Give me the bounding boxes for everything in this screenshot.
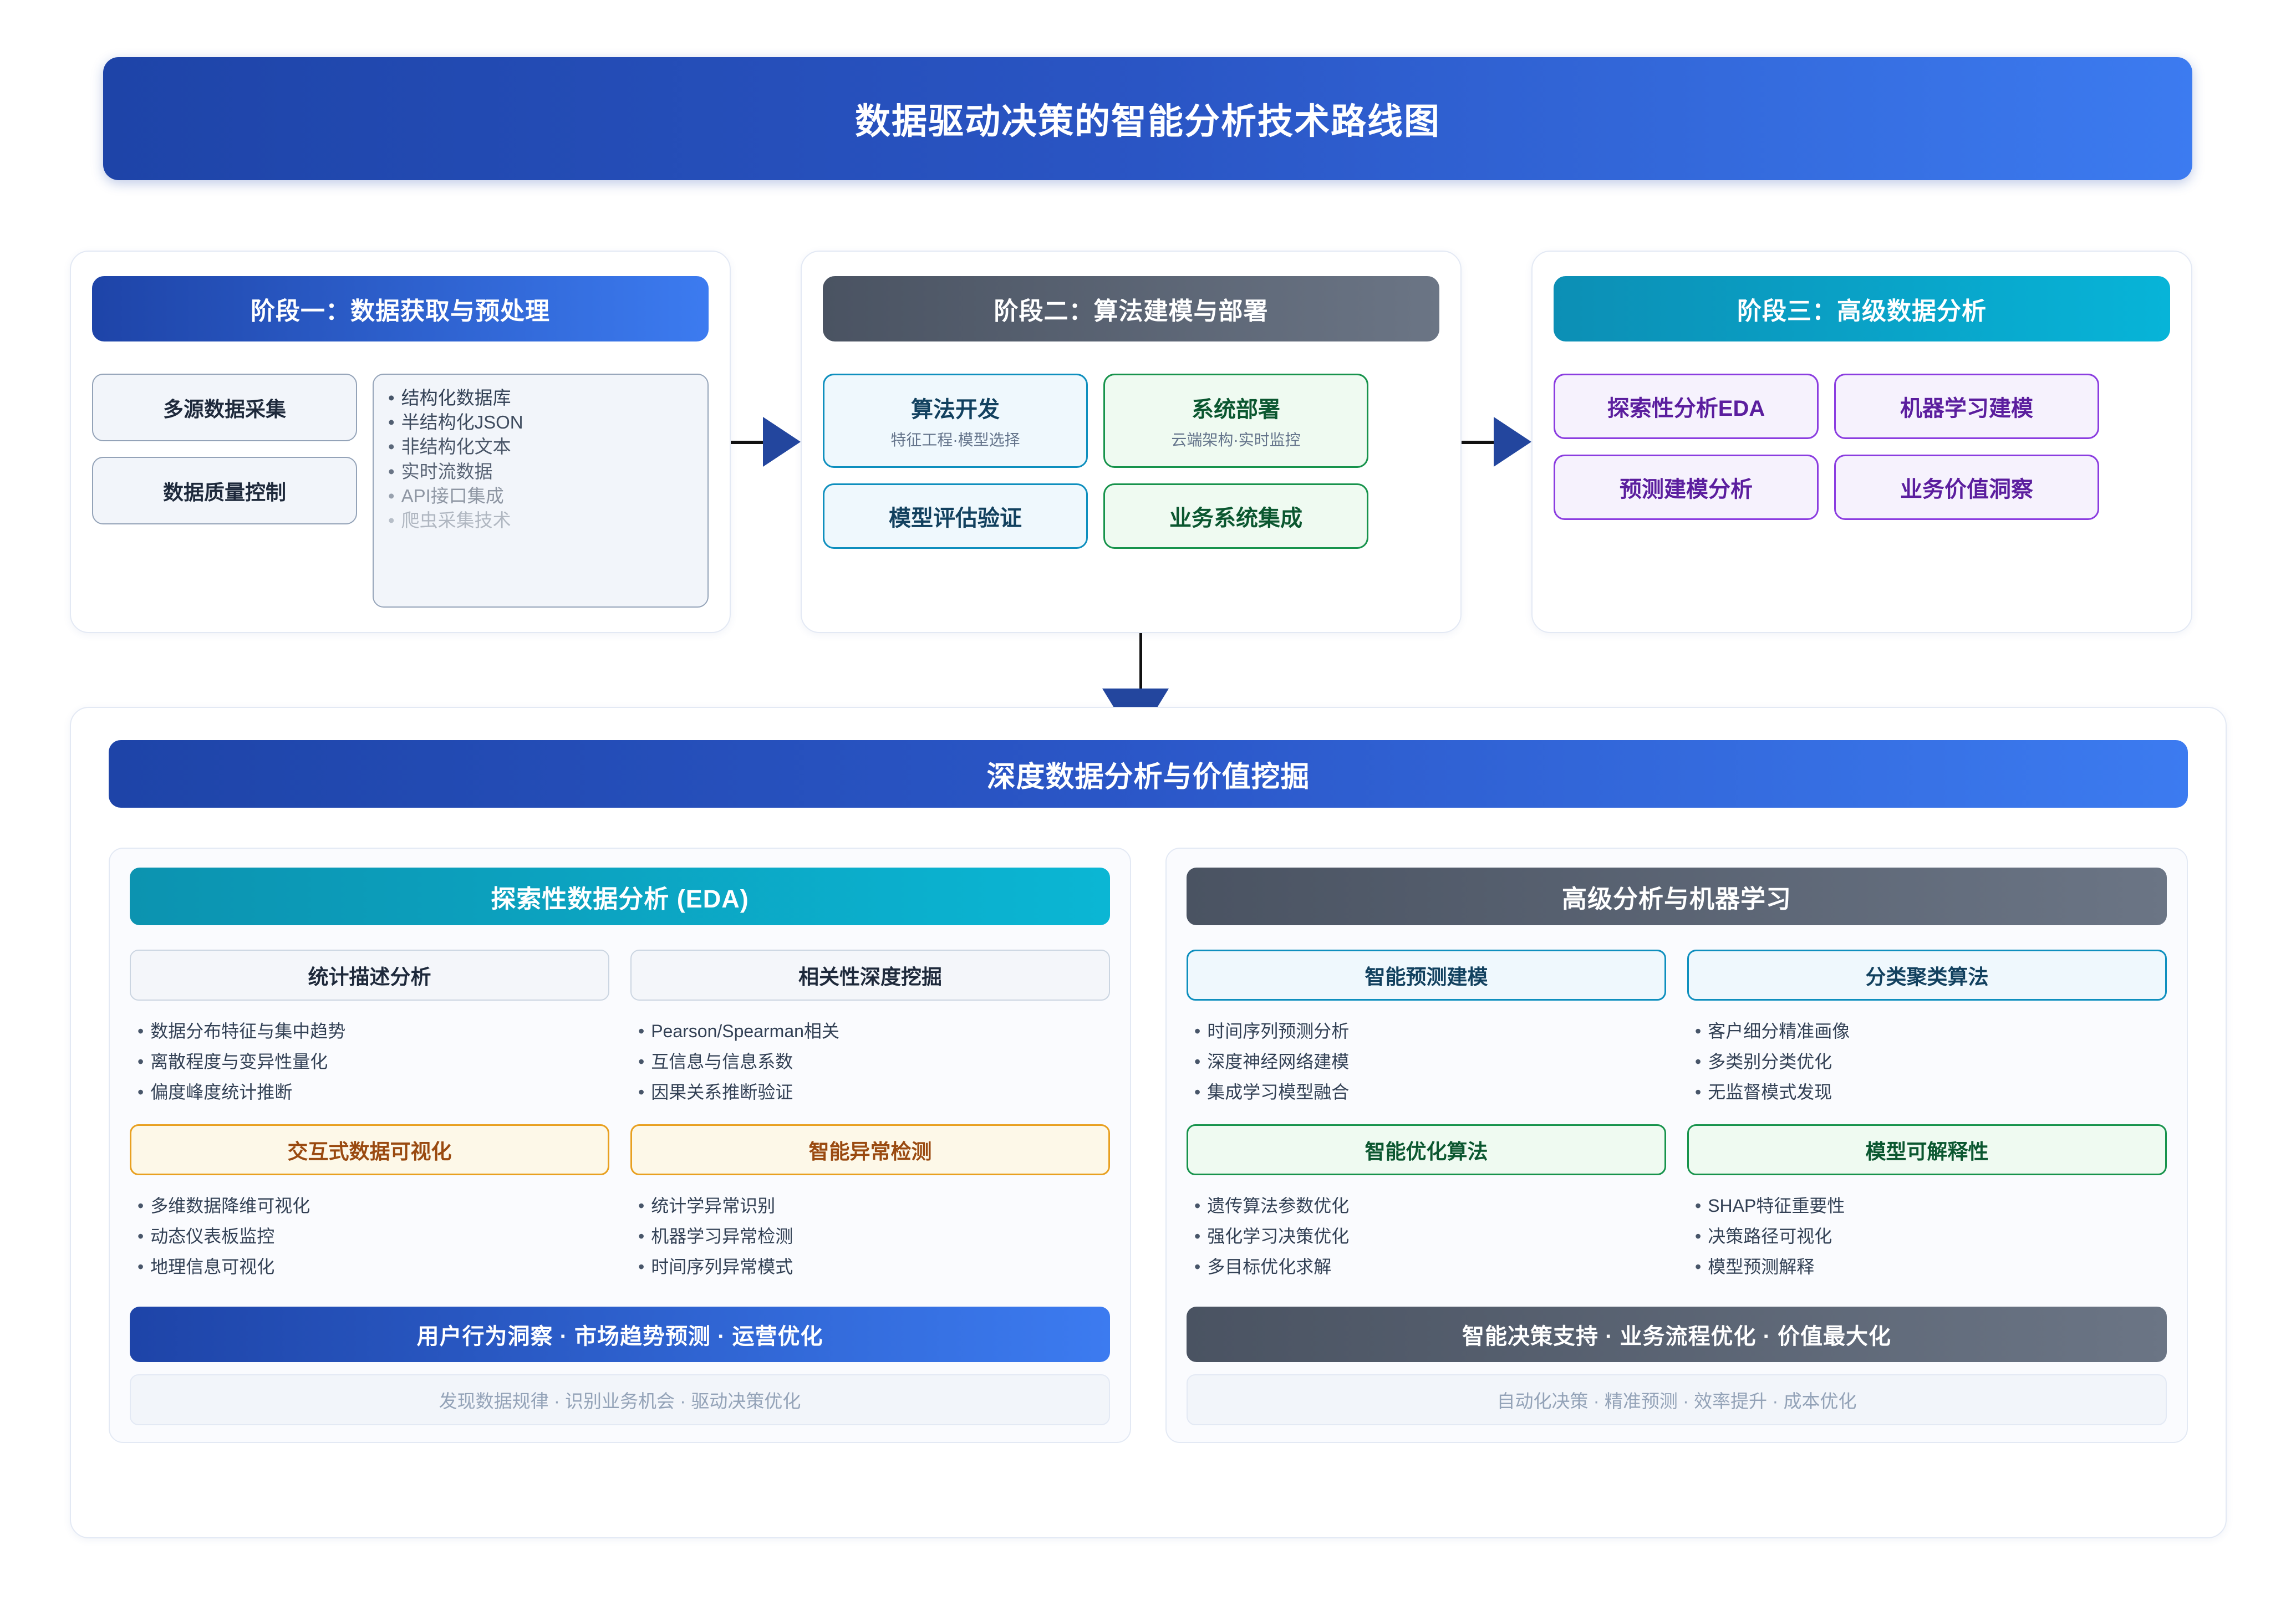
deep-analysis-banner-label: 深度数据分析与价值挖掘 [986, 753, 1310, 795]
list-item: 深度神经网络建模 [1194, 1047, 1666, 1077]
list-item: 多目标优化求解 [1194, 1252, 1666, 1282]
bullet-list: 多维数据降维可视化 动态仪表板监控 地理信息可视化 [138, 1191, 609, 1282]
list-item: 遗传算法参数优化 [1194, 1191, 1666, 1221]
analysis-panels: 探索性数据分析 (EDA) 统计描述分析 数据分布特征与集中趋势 离散程度与变异… [109, 848, 2188, 1443]
panel-ml-footnote: 自动化决策 · 精准预测 · 效率提升 · 成本优化 [1187, 1374, 2167, 1425]
panel-eda-row-1: 统计描述分析 数据分布特征与集中趋势 离散程度与变异性量化 偏度峰度统计推断 交… [130, 950, 1110, 1299]
arrow-right-icon [731, 411, 801, 472]
list-item: API接口集成 [388, 484, 693, 508]
card-classification-clustering[interactable]: 分类聚类算法 [1687, 950, 2167, 1001]
bullet-list: SHAP特征重要性 决策路径可视化 模型预测解释 [1695, 1191, 2167, 1282]
box-model-evaluation[interactable]: 模型评估验证 [823, 483, 1088, 549]
connector-stage1-stage2 [731, 251, 801, 633]
bullet-list: 时间序列预测分析 深度神经网络建模 集成学习模型融合 [1194, 1016, 1666, 1108]
panel-eda-footnote: 发现数据规律 · 识别业务机会 · 驱动决策优化 [130, 1374, 1110, 1425]
box-exploratory-analysis-eda[interactable]: 探索性分析EDA [1554, 374, 1819, 439]
box-business-integration[interactable]: 业务系统集成 [1103, 483, 1368, 549]
list-item: 半结构化JSON [388, 410, 693, 435]
bullet-list: 数据分布特征与集中趋势 离散程度与变异性量化 偏度峰度统计推断 [138, 1016, 609, 1108]
list-item: 模型预测解释 [1695, 1252, 2167, 1282]
stage-card-3: 阶段三：高级数据分析 探索性分析EDA 预测建模分析 机器学习建模 [1531, 251, 2192, 633]
list-item: 机器学习异常检测 [638, 1221, 1110, 1252]
list-item: SHAP特征重要性 [1695, 1191, 2167, 1221]
panel-eda-col-2: 相关性深度挖掘 Pearson/Spearman相关 互信息与信息系数 因果关系… [630, 950, 1110, 1299]
stage-1-header: 阶段一：数据获取与预处理 [92, 276, 709, 341]
arrow-head [763, 417, 801, 467]
stage-2-body: 算法开发 特征工程·模型选择 模型评估验证 系统部署 云端架构·实时监控 业务系… [823, 374, 1439, 608]
list-item: 集成学习模型融合 [1194, 1077, 1666, 1108]
panel-ml-header: 高级分析与机器学习 [1187, 868, 2167, 925]
bullet-list: 遗传算法参数优化 强化学习决策优化 多目标优化求解 [1194, 1191, 1666, 1282]
stage-3-body: 探索性分析EDA 预测建模分析 机器学习建模 业务价值洞察 [1554, 374, 2170, 608]
stage-2-left-column: 算法开发 特征工程·模型选择 模型评估验证 [823, 374, 1088, 608]
panel-eda-header: 探索性数据分析 (EDA) [130, 868, 1110, 925]
arrow-shaft [1139, 633, 1142, 693]
panel-ml-highlight: 智能决策支持 · 业务流程优化 · 价值最大化 [1187, 1307, 2167, 1362]
panel-eda-highlight: 用户行为洞察 · 市场趋势预测 · 运营优化 [130, 1307, 1110, 1362]
bullet-list: 客户细分精准画像 多类别分类优化 无监督模式发现 [1695, 1016, 2167, 1108]
stage-1-body: 多源数据采集 数据质量控制 结构化数据库 半结构化JSON 非结构化文本 实时流… [92, 374, 709, 608]
box-algorithm-development[interactable]: 算法开发 特征工程·模型选择 [823, 374, 1088, 468]
card-correlation-mining[interactable]: 相关性深度挖掘 [630, 950, 1110, 1001]
stage-card-2: 阶段二：算法建模与部署 算法开发 特征工程·模型选择 模型评估验证 系统部署 云… [801, 251, 1462, 633]
box-business-value-insight[interactable]: 业务价值洞察 [1834, 455, 2099, 520]
list-item: 多维数据降维可视化 [138, 1191, 609, 1221]
list-item: 时间序列预测分析 [1194, 1016, 1666, 1047]
roadmap-diagram: 数据驱动决策的智能分析技术路线图 阶段一：数据获取与预处理 多源数据采集 数据质… [0, 0, 2296, 1601]
box-machine-learning-modeling[interactable]: 机器学习建模 [1834, 374, 2099, 439]
list-item: 结构化数据库 [388, 386, 693, 410]
list-item: 强化学习决策优化 [1194, 1221, 1666, 1252]
list-item: 统计学异常识别 [638, 1191, 1110, 1221]
deep-analysis-section: 深度数据分析与价值挖掘 探索性数据分析 (EDA) 统计描述分析 数据分布特征与… [70, 707, 2227, 1538]
bullet-list: 统计学异常识别 机器学习异常检测 时间序列异常模式 [638, 1191, 1110, 1282]
list-item: 时间序列异常模式 [638, 1252, 1110, 1282]
card-anomaly-detection[interactable]: 智能异常检测 [630, 1124, 1110, 1175]
stage-card-1: 阶段一：数据获取与预处理 多源数据采集 数据质量控制 结构化数据库 半结构化JS… [70, 251, 731, 633]
stage-3-right-column: 机器学习建模 业务价值洞察 [1834, 374, 2099, 608]
arrow-shaft [731, 441, 767, 444]
list-item: 数据分布特征与集中趋势 [138, 1016, 609, 1047]
connector-stage2-stage3 [1462, 251, 1531, 633]
arrow-shaft [1462, 441, 1498, 444]
stage-row: 阶段一：数据获取与预处理 多源数据采集 数据质量控制 结构化数据库 半结构化JS… [70, 251, 2227, 633]
panel-ml-col-1: 智能预测建模 时间序列预测分析 深度神经网络建模 集成学习模型融合 智能优化算法… [1187, 950, 1666, 1299]
list-item: 非结构化文本 [388, 435, 693, 459]
chip-multi-source-collection[interactable]: 多源数据采集 [92, 374, 357, 441]
stage-1-bullet-panel: 结构化数据库 半结构化JSON 非结构化文本 实时流数据 API接口集成 爬虫采… [373, 374, 709, 608]
card-intelligent-forecasting[interactable]: 智能预测建模 [1187, 950, 1666, 1001]
list-item: 爬虫采集技术 [388, 508, 693, 533]
card-interactive-visualization[interactable]: 交互式数据可视化 [130, 1124, 609, 1175]
stage-2-right-column: 系统部署 云端架构·实时监控 业务系统集成 [1103, 374, 1368, 608]
page-title: 数据驱动决策的智能分析技术路线图 [855, 93, 1440, 144]
main-title-banner: 数据驱动决策的智能分析技术路线图 [103, 57, 2192, 180]
list-item: 动态仪表板监控 [138, 1221, 609, 1252]
panel-ml-row-1: 智能预测建模 时间序列预测分析 深度神经网络建模 集成学习模型融合 智能优化算法… [1187, 950, 2167, 1299]
arrow-right-icon [1462, 411, 1531, 472]
list-item: 因果关系推断验证 [638, 1077, 1110, 1108]
list-item: 地理信息可视化 [138, 1252, 609, 1282]
list-item: 无监督模式发现 [1695, 1077, 2167, 1108]
chip-data-quality-control[interactable]: 数据质量控制 [92, 457, 357, 524]
box-system-deployment[interactable]: 系统部署 云端架构·实时监控 [1103, 374, 1368, 468]
card-statistical-description[interactable]: 统计描述分析 [130, 950, 609, 1001]
stage-3-header-label: 阶段三：高级数据分析 [1737, 291, 1987, 327]
arrow-head [1494, 417, 1531, 467]
list-item: 偏度峰度统计推断 [138, 1077, 609, 1108]
stage-2-header-label: 阶段二：算法建模与部署 [994, 291, 1269, 327]
list-item: 实时流数据 [388, 460, 693, 484]
list-item: 互信息与信息系数 [638, 1047, 1110, 1077]
card-optimization-algorithms[interactable]: 智能优化算法 [1187, 1124, 1666, 1175]
panel-ml-header-label: 高级分析与机器学习 [1562, 879, 1791, 915]
list-item: Pearson/Spearman相关 [638, 1016, 1110, 1047]
panel-eda-header-label: 探索性数据分析 (EDA) [491, 879, 749, 915]
stage-1-header-label: 阶段一：数据获取与预处理 [251, 291, 550, 327]
stage-3-left-column: 探索性分析EDA 预测建模分析 [1554, 374, 1819, 608]
panel-eda: 探索性数据分析 (EDA) 统计描述分析 数据分布特征与集中趋势 离散程度与变异… [109, 848, 1131, 1443]
list-item: 客户细分精准画像 [1695, 1016, 2167, 1047]
panel-advanced-ml: 高级分析与机器学习 智能预测建模 时间序列预测分析 深度神经网络建模 集成学习模… [1165, 848, 2188, 1443]
stage-2-header: 阶段二：算法建模与部署 [823, 276, 1439, 341]
list-item: 决策路径可视化 [1695, 1221, 2167, 1252]
box-predictive-modeling[interactable]: 预测建模分析 [1554, 455, 1819, 520]
panel-eda-col-1: 统计描述分析 数据分布特征与集中趋势 离散程度与变异性量化 偏度峰度统计推断 交… [130, 950, 609, 1299]
list-item: 多类别分类优化 [1695, 1047, 2167, 1077]
deep-analysis-banner: 深度数据分析与价值挖掘 [109, 740, 2188, 808]
bullet-list: Pearson/Spearman相关 互信息与信息系数 因果关系推断验证 [638, 1016, 1110, 1108]
stage-3-header: 阶段三：高级数据分析 [1554, 276, 2170, 341]
list-item: 离散程度与变异性量化 [138, 1047, 609, 1077]
card-model-interpretability[interactable]: 模型可解释性 [1687, 1124, 2167, 1175]
panel-ml-col-2: 分类聚类算法 客户细分精准画像 多类别分类优化 无监督模式发现 模型可解释性 S… [1687, 950, 2167, 1299]
stage-1-chip-column: 多源数据采集 数据质量控制 [92, 374, 357, 608]
